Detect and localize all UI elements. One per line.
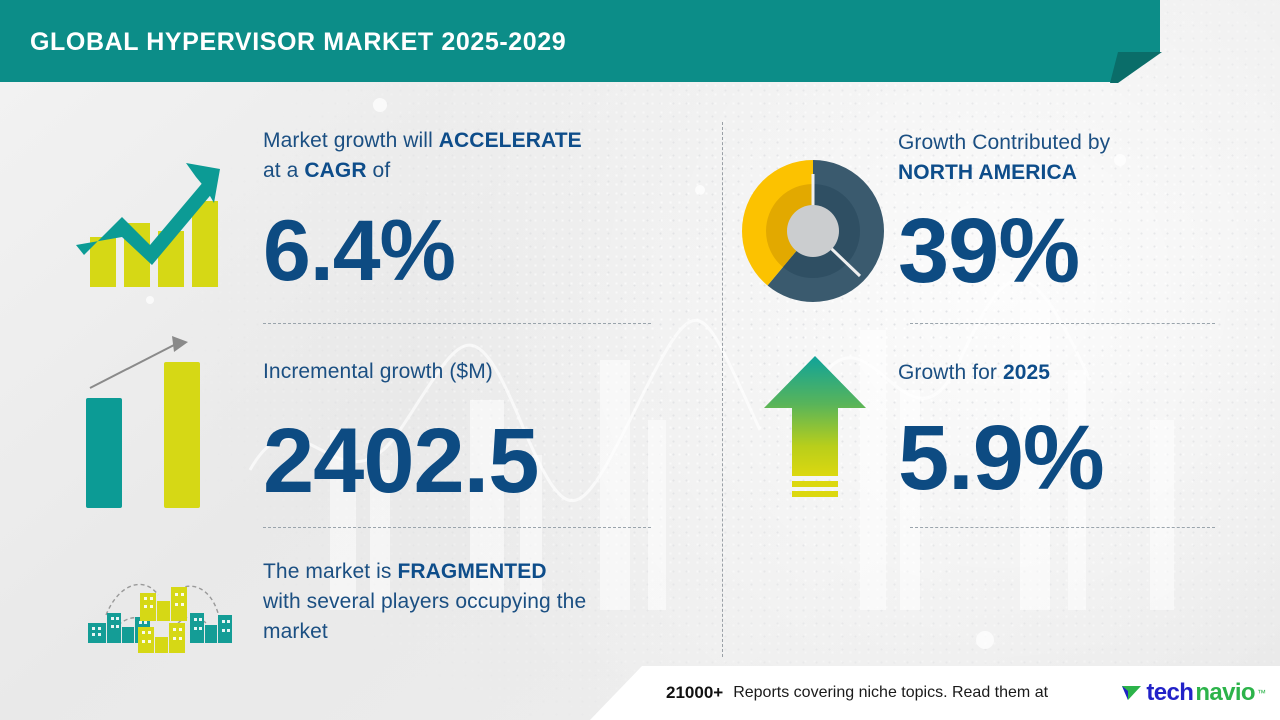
city-clusters-icon (78, 565, 233, 660)
footer-tagline: Reports covering niche topics. Read them… (733, 684, 1110, 702)
two-bar-chart-icon: 2024 2029 (70, 330, 230, 520)
page-title: GLOBAL HYPERVISOR MARKET 2025-2029 (30, 28, 566, 57)
fragmentation-line2: with several players occupying the (263, 590, 586, 613)
yearly-growth-plain: Growth for (898, 361, 1003, 384)
region-caption: Growth Contributed by NORTH AMERICA (898, 128, 1228, 188)
yearly-growth-caption: Growth for 2025 (898, 358, 1050, 388)
cagr-caption-bold-cagr: CAGR (304, 159, 366, 182)
header-fold-corner (1110, 52, 1162, 84)
divider-left-2 (263, 527, 651, 528)
up-arrow-icon (760, 352, 870, 509)
growth-bar-arrow-icon (68, 145, 228, 300)
fragmentation-text: The market is FRAGMENTED with several pl… (263, 557, 683, 647)
incremental-growth-label: Incremental growth ($M) (263, 357, 493, 387)
cagr-caption-plain-3: of (367, 159, 391, 182)
footer: 21000+ Reports covering niche topics. Re… (0, 666, 1280, 720)
divider-left-1 (263, 323, 651, 324)
region-caption-bold: NORTH AMERICA (898, 161, 1077, 184)
column-divider (722, 122, 723, 657)
bar-label-2029: 2029 (166, 513, 198, 515)
cagr-caption-bold-accelerate: ACCELERATE (439, 129, 582, 152)
logo-word-navio: navio (1195, 679, 1255, 707)
footer-band (590, 666, 1280, 720)
yearly-growth-year: 2025 (1003, 361, 1050, 384)
cagr-caption-plain-1: Market growth will (263, 129, 439, 152)
cagr-caption-plain-2: at a (263, 159, 304, 182)
logo-trademark: ™ (1257, 688, 1266, 698)
technavio-triangle-icon (1120, 681, 1144, 705)
fragmentation-plain-1: The market is (263, 560, 397, 583)
incremental-growth-value: 2402.5 (263, 415, 538, 507)
divider-right-1 (910, 323, 1215, 324)
region-value: 39% (898, 205, 1079, 297)
footer-report-count: 21000+ (666, 683, 723, 703)
logo-word-tech: tech (1146, 679, 1193, 707)
yearly-growth-value: 5.9% (898, 412, 1104, 504)
fragmentation-bold: FRAGMENTED (397, 560, 546, 583)
bar-label-2024: 2024 (88, 513, 120, 515)
fragmentation-line3: market (263, 620, 328, 643)
infographic-canvas: GLOBAL HYPERVISOR MARKET 2025-2029 Marke… (0, 0, 1280, 720)
cagr-value: 6.4% (263, 208, 455, 294)
divider-right-2 (910, 527, 1215, 528)
region-caption-line1: Growth Contributed by (898, 131, 1110, 154)
cagr-text-block: Market growth will ACCELERATE at a CAGR … (263, 126, 663, 186)
cagr-caption: Market growth will ACCELERATE at a CAGR … (263, 126, 663, 186)
technavio-logo[interactable]: technavio™ (1120, 679, 1266, 707)
donut-chart-icon (742, 160, 884, 307)
